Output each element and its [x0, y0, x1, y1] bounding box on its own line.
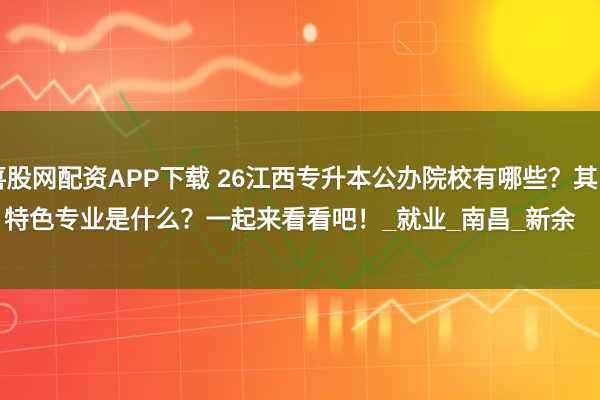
- marker-dot-top: [303, 24, 317, 42]
- banner-image: 喜股网配资APP下载 26江西专升本公办院校有哪些？其特色专业是什么？一起来看看…: [0, 0, 600, 400]
- candle-smear-top: [10, 19, 300, 105]
- banner-headline: 喜股网配资APP下载 26江西专升本公办院校有哪些？其特色专业是什么？一起来看看…: [0, 111, 600, 289]
- marker-dot-top-left: [58, 41, 66, 53]
- marker-ring-left: [0, 304, 16, 332]
- banner-headline-text: 喜股网配资APP下载 26江西专升本公办院校有哪些？其特色专业是什么？一起来看看…: [0, 159, 600, 241]
